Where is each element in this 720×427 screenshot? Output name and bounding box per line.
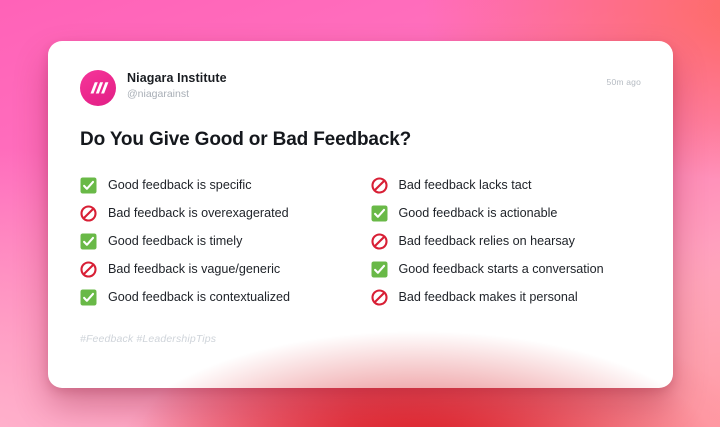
prohibited-icon xyxy=(371,177,388,194)
account-handle: @niagarainst xyxy=(127,87,227,101)
list-item-label: Good feedback is specific xyxy=(108,177,252,194)
list-item: Bad feedback lacks tact xyxy=(371,171,642,199)
list-item-label: Good feedback is timely xyxy=(108,233,242,250)
list-item-label: Bad feedback is vague/generic xyxy=(108,261,280,278)
niagara-logo-icon xyxy=(80,70,116,106)
prohibited-icon xyxy=(80,261,97,278)
list-item: Good feedback is timely xyxy=(80,227,361,255)
gradient-background: Niagara Institute @niagarainst 50m ago D… xyxy=(0,0,720,427)
list-item: Bad feedback makes it personal xyxy=(371,283,642,311)
list-item-label: Good feedback is contextualized xyxy=(108,289,290,306)
list-item: Bad feedback is overexagerated xyxy=(80,199,361,227)
list-item-label: Bad feedback makes it personal xyxy=(399,289,578,306)
list-item-label: Bad feedback is overexagerated xyxy=(108,205,289,222)
list-item: Bad feedback relies on hearsay xyxy=(371,227,642,255)
list-item-label: Good feedback starts a conversation xyxy=(399,261,604,278)
social-post-card: Niagara Institute @niagarainst 50m ago D… xyxy=(48,41,673,388)
hashtags: #Feedback #LeadershipTips xyxy=(80,333,641,345)
post-header: Niagara Institute @niagarainst 50m ago xyxy=(80,70,641,116)
check-icon xyxy=(371,205,388,222)
page-title: Do You Give Good or Bad Feedback? xyxy=(80,129,641,151)
check-icon xyxy=(80,177,97,194)
list-item: Bad feedback is vague/generic xyxy=(80,255,361,283)
avatar[interactable] xyxy=(80,70,116,106)
feedback-lists: Good feedback is specificBad feedback is… xyxy=(80,171,641,311)
account-name: Niagara Institute xyxy=(127,71,227,86)
prohibited-icon xyxy=(371,233,388,250)
list-item: Good feedback is actionable xyxy=(371,199,642,227)
feedback-list-right: Bad feedback lacks tactGood feedback is … xyxy=(361,171,642,311)
account-identity: Niagara Institute @niagarainst xyxy=(127,70,227,101)
check-icon xyxy=(80,289,97,306)
list-item-label: Bad feedback lacks tact xyxy=(399,177,532,194)
list-item: Good feedback is contextualized xyxy=(80,283,361,311)
check-icon xyxy=(371,261,388,278)
feedback-list-left: Good feedback is specificBad feedback is… xyxy=(80,171,361,311)
list-item-label: Bad feedback relies on hearsay xyxy=(399,233,575,250)
prohibited-icon xyxy=(371,289,388,306)
check-icon xyxy=(80,233,97,250)
prohibited-icon xyxy=(80,205,97,222)
list-item: Good feedback is specific xyxy=(80,171,361,199)
list-item: Good feedback starts a conversation xyxy=(371,255,642,283)
list-item-label: Good feedback is actionable xyxy=(399,205,558,222)
post-timestamp: 50m ago xyxy=(607,77,641,87)
